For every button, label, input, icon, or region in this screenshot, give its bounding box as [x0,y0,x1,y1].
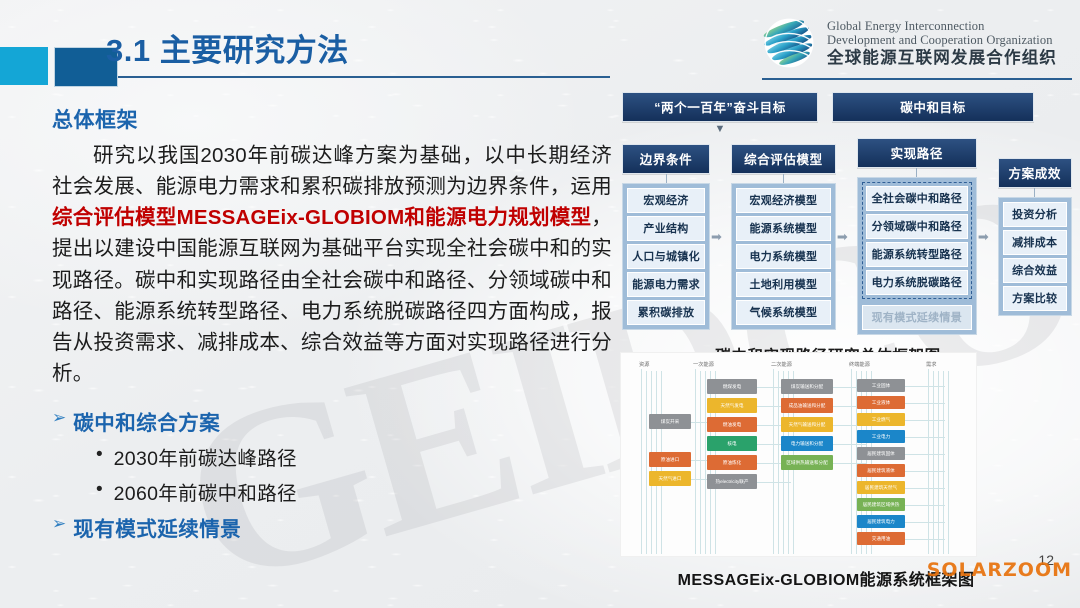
energy-flow-line [905,403,945,404]
energy-column-header: 需求 [926,361,936,368]
flowchart-column-body-1: 宏观经济模型能源系统模型电力系统模型土地利用模型气候系统模型 [731,183,836,330]
title-underline [118,76,610,78]
energy-column-header: 资源 [639,361,649,368]
bullet-label: 现有模式延续情景 [73,512,241,542]
flowchart-top-row: “两个一百年”奋斗目标 碳中和目标 [622,92,1034,122]
paragraph-text-2: ，提出以建设中国能源互联网为基础平台实现全社会碳中和的实现路径。碳中和实现路径由… [52,206,612,385]
logo-line-en-2: Development and Cooperation Organization [827,33,1057,47]
flowchart-column-body-3: 投资分析减排成本综合效益方案比较 [998,197,1072,316]
flowchart-cell: 土地利用模型 [736,272,831,297]
bullet-label: 碳中和综合方案 [73,406,220,436]
organization-logo: Global Energy Interconnection Developmen… [760,14,1057,72]
energy-flow-line [905,471,945,472]
flow-arrow-icon: ➡ [836,230,849,243]
energy-node: 居民建筑固体 [857,447,905,460]
energy-flow-line [905,488,945,489]
energy-flow-line [905,505,945,506]
slide-canvas: GEIDCO 3.1 主要研究方法 [0,0,1080,608]
energy-guide-line [928,369,929,554]
flowchart-cell: 气候系统模型 [736,300,831,325]
energy-guide-line [938,371,939,554]
flowchart-cell: 现有模式延续情景 [862,305,972,330]
flowchart-column-body-0: 宏观经济产业结构人口与城镇化能源电力需求累积碳排放 [622,183,710,330]
bullet-label: 2060年前碳中和路径 [114,477,297,506]
flowchart-down-arrow-icon: ▼ [622,122,818,136]
flowchart-column-0: 边界条件宏观经济产业结构人口与城镇化能源电力需求累积碳排放➡ [622,138,723,335]
body-paragraph: 研究以我国2030年前碳达峰方案为基础，以中长期经济社会发展、能源电力需求和累积… [52,140,612,389]
energy-flow-line [905,437,945,438]
flowchart-column-body-2: 全社会碳中和路径分领域碳中和路径能源系统转型路径电力系统脱碳路径现有模式延续情景 [857,177,977,335]
flow-arrow-icon: ➡ [710,230,723,243]
energy-node: 电力输送和分配 [781,436,833,451]
page-title: 3.1 主要研究方法 [106,25,349,70]
energy-guide-line [646,371,647,554]
energy-node: 天然气输送和分配 [781,417,833,432]
flowchart-cell: 能源电力需求 [627,272,705,297]
flowchart-cell: 能源系统转型路径 [866,242,968,267]
flowchart-columns: 边界条件宏观经济产业结构人口与城镇化能源电力需求累积碳排放➡综合评估模型宏观经济… [622,138,1034,335]
energy-node: 居民建筑电力 [857,515,905,528]
flowchart-cell: 宏观经济 [627,188,705,213]
paragraph-text-0: 研究以我国2030年前碳达峰方案为基础，以中长期经济社会发展、能源电力需求和累积… [52,144,612,198]
flowchart-cell: 电力系统脱碳路径 [866,270,968,295]
energy-node: 工业固体 [857,379,905,392]
connector-line [857,168,977,177]
solarzoom-watermark: SOLARZOOM [927,559,1072,581]
energy-node: 燃煤发电 [707,379,757,394]
energy-guide-line [641,369,642,554]
energy-guide-line [705,371,706,554]
energy-column-header: 二次能源 [771,361,792,368]
energy-guide-line [948,371,949,554]
energy-node: 煤炭开采 [649,414,691,429]
energy-flow-line [905,454,945,455]
connector-line [998,188,1072,197]
energy-node: 居民建筑天然气 [857,481,905,494]
energy-node: 工业电力 [857,430,905,443]
flowchart-cell: 累积碳排放 [627,300,705,325]
energy-node: 燃油发电 [707,417,757,432]
flowchart-cell: 宏观经济模型 [736,188,831,213]
flowchart-top-box-1: 碳中和目标 [832,92,1034,122]
flowchart-column-3: 方案成效投资分析减排成本综合效益方案比较 [998,138,1072,335]
flowchart-column-1: 综合评估模型宏观经济模型能源系统模型电力系统模型土地利用模型气候系统模型➡ [731,138,849,335]
bullet-item-3: ➢现有模式延续情景 [52,512,612,542]
bullet-label: 2030年前碳达峰路径 [114,442,297,471]
flowchart-cell: 产业结构 [627,216,705,241]
chevron-bullet-icon: ➢ [52,406,66,431]
energy-node: 热electricity联产 [707,474,757,489]
logo-line-en-1: Global Energy Interconnection [827,19,1057,33]
flowchart-cell: 综合效益 [1003,258,1067,283]
energy-node: 居民建筑区域供热 [857,498,905,511]
energy-column-header: 一次能源 [693,361,714,368]
flowchart-dashed-group: 全社会碳中和路径分领域碳中和路径能源系统转型路径电力系统脱碳路径 [862,182,972,299]
paragraph-highlight-1: 综合评估模型MESSAGEix-GLOBIOM和能源电力规划模型 [52,206,591,229]
flowchart-column-header-2: 实现路径 [857,138,977,168]
energy-column-header: 终端能源 [849,361,870,368]
flowchart-top-box-0: “两个一百年”奋斗目标 [622,92,818,122]
energy-guide-line [695,369,696,554]
energy-node: 天然气发电 [707,398,757,413]
flowchart-column-header-1: 综合评估模型 [731,144,836,174]
flowchart-cell: 电力系统模型 [736,244,831,269]
energy-flow-line [905,522,945,523]
energy-node: 成品油输送和分配 [781,398,833,413]
energy-node: 交通用油 [857,532,905,545]
bullet-item-2: •2060年前碳中和路径 [96,477,612,506]
flowchart-column-2: 实现路径全社会碳中和路径分领域碳中和路径能源系统转型路径电力系统脱碳路径现有模式… [857,138,990,335]
energy-guide-line [943,371,944,554]
flowchart-column-header-0: 边界条件 [622,144,710,174]
connector-line [622,174,710,183]
dot-bullet-icon: • [96,442,103,468]
energy-flow-line [757,482,791,483]
bullet-item-0: ➢碳中和综合方案 [52,406,612,436]
title-accent-cyan [0,47,48,85]
energy-node: 原油炼化 [707,455,757,470]
flowchart-cell: 投资分析 [1003,202,1067,227]
energy-node: 核电 [707,436,757,451]
energy-node: 工业燃气 [857,413,905,426]
chevron-bullet-icon: ➢ [52,512,66,537]
energy-node: 原油进口 [649,452,691,467]
flow-arrow-icon: ➡ [977,230,990,243]
energy-node: 煤炭输送和分配 [781,379,833,394]
flowchart-cell: 方案比较 [1003,286,1067,311]
dot-bullet-icon: • [96,477,103,503]
flowchart-column-header-3: 方案成效 [998,158,1072,188]
flowchart-cell: 全社会碳中和路径 [866,186,968,211]
energy-guide-line [773,369,774,554]
bullet-item-1: •2030年前碳达峰路径 [96,442,612,471]
flowchart-cell: 能源系统模型 [736,216,831,241]
globe-icon [760,14,818,72]
energy-node: 天然气进口 [649,471,691,486]
flowchart-cell: 人口与城镇化 [627,244,705,269]
energy-node: 区域供热输送和分配 [781,455,833,470]
connector-line [731,174,836,183]
energy-flow-line [905,420,945,421]
energy-node: 工业液体 [857,396,905,409]
logo-line-cn: 全球能源互联网发展合作组织 [827,49,1057,67]
section-subheading: 总体框架 [52,104,612,134]
energy-flow-line [905,386,945,387]
energy-guide-line [700,371,701,554]
energy-flow-line [905,539,945,540]
energy-guide-line [851,369,852,554]
logo-text-block: Global Energy Interconnection Developmen… [827,19,1057,67]
flowchart-cell: 分领域碳中和路径 [866,214,968,239]
energy-flow-line [833,444,867,445]
logo-underline [762,78,1072,80]
bullet-list: ➢碳中和综合方案•2030年前碳达峰路径•2060年前碳中和路径➢现有模式延续情… [52,406,612,542]
content-column-left: 总体框架 研究以我国2030年前碳达峰方案为基础，以中长期经济社会发展、能源电力… [52,104,612,547]
flowchart-cell: 减排成本 [1003,230,1067,255]
framework-flowchart: “两个一百年”奋斗目标 碳中和目标 ▼ 边界条件宏观经济产业结构人口与城镇化能源… [622,92,1034,366]
energy-system-diagram: 资源一次能源二次能源终端能源需求煤炭开采原油进口天然气进口燃煤发电天然气发电燃油… [620,352,977,557]
energy-guide-line [933,371,934,554]
energy-node: 居民建筑液体 [857,464,905,477]
